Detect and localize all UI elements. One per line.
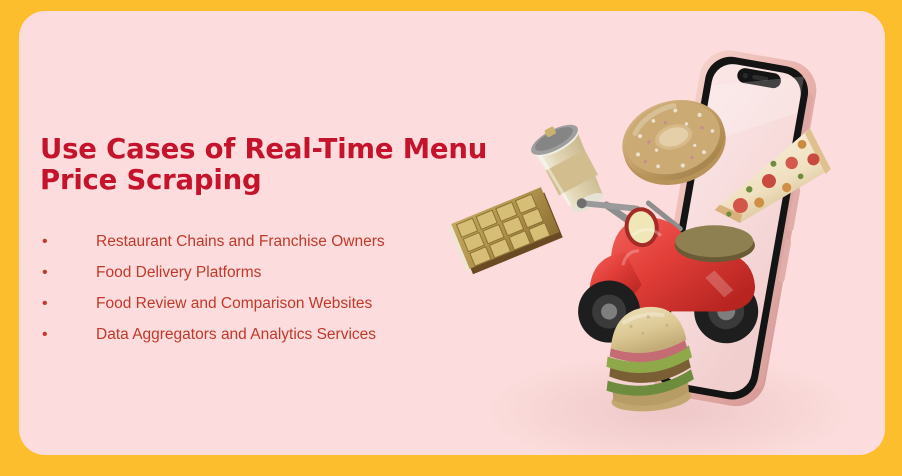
banner-frame: Use Cases of Real-Time Menu Price Scrapi… xyxy=(0,0,902,476)
list-item-label: Food Delivery Platforms xyxy=(62,264,500,282)
list-item: • Food Review and Comparison Websites xyxy=(40,288,500,319)
scooter-icon xyxy=(562,175,770,363)
donut-icon xyxy=(613,88,736,196)
bullet-marker-icon: • xyxy=(40,327,62,343)
bullet-marker-icon: • xyxy=(40,296,62,312)
list-item-label: Restaurant Chains and Franchise Owners xyxy=(62,233,500,251)
pizza-slice-icon xyxy=(702,126,838,228)
smartphone-icon xyxy=(644,46,822,411)
text-content: Use Cases of Real-Time Menu Price Scrapi… xyxy=(40,134,500,350)
bullet-marker-icon: • xyxy=(40,265,62,281)
coffee-cup-icon xyxy=(525,116,613,220)
banner-panel: Use Cases of Real-Time Menu Price Scrapi… xyxy=(19,11,885,455)
page-title-line-1: Use Cases of Real-Time Menu xyxy=(40,134,500,165)
list-item: • Restaurant Chains and Franchise Owners xyxy=(40,226,500,257)
list-item: • Data Aggregators and Analytics Service… xyxy=(40,319,500,350)
page-title-line-2: Price Scraping xyxy=(40,165,500,196)
list-item-label: Data Aggregators and Analytics Services xyxy=(62,326,500,344)
page-title: Use Cases of Real-Time Menu Price Scrapi… xyxy=(40,134,500,196)
list-item: • Food Delivery Platforms xyxy=(40,257,500,288)
list-item-label: Food Review and Comparison Websites xyxy=(62,295,500,313)
burger-icon xyxy=(600,303,697,414)
bullet-marker-icon: • xyxy=(40,234,62,250)
use-case-list: • Restaurant Chains and Franchise Owners… xyxy=(40,226,500,350)
